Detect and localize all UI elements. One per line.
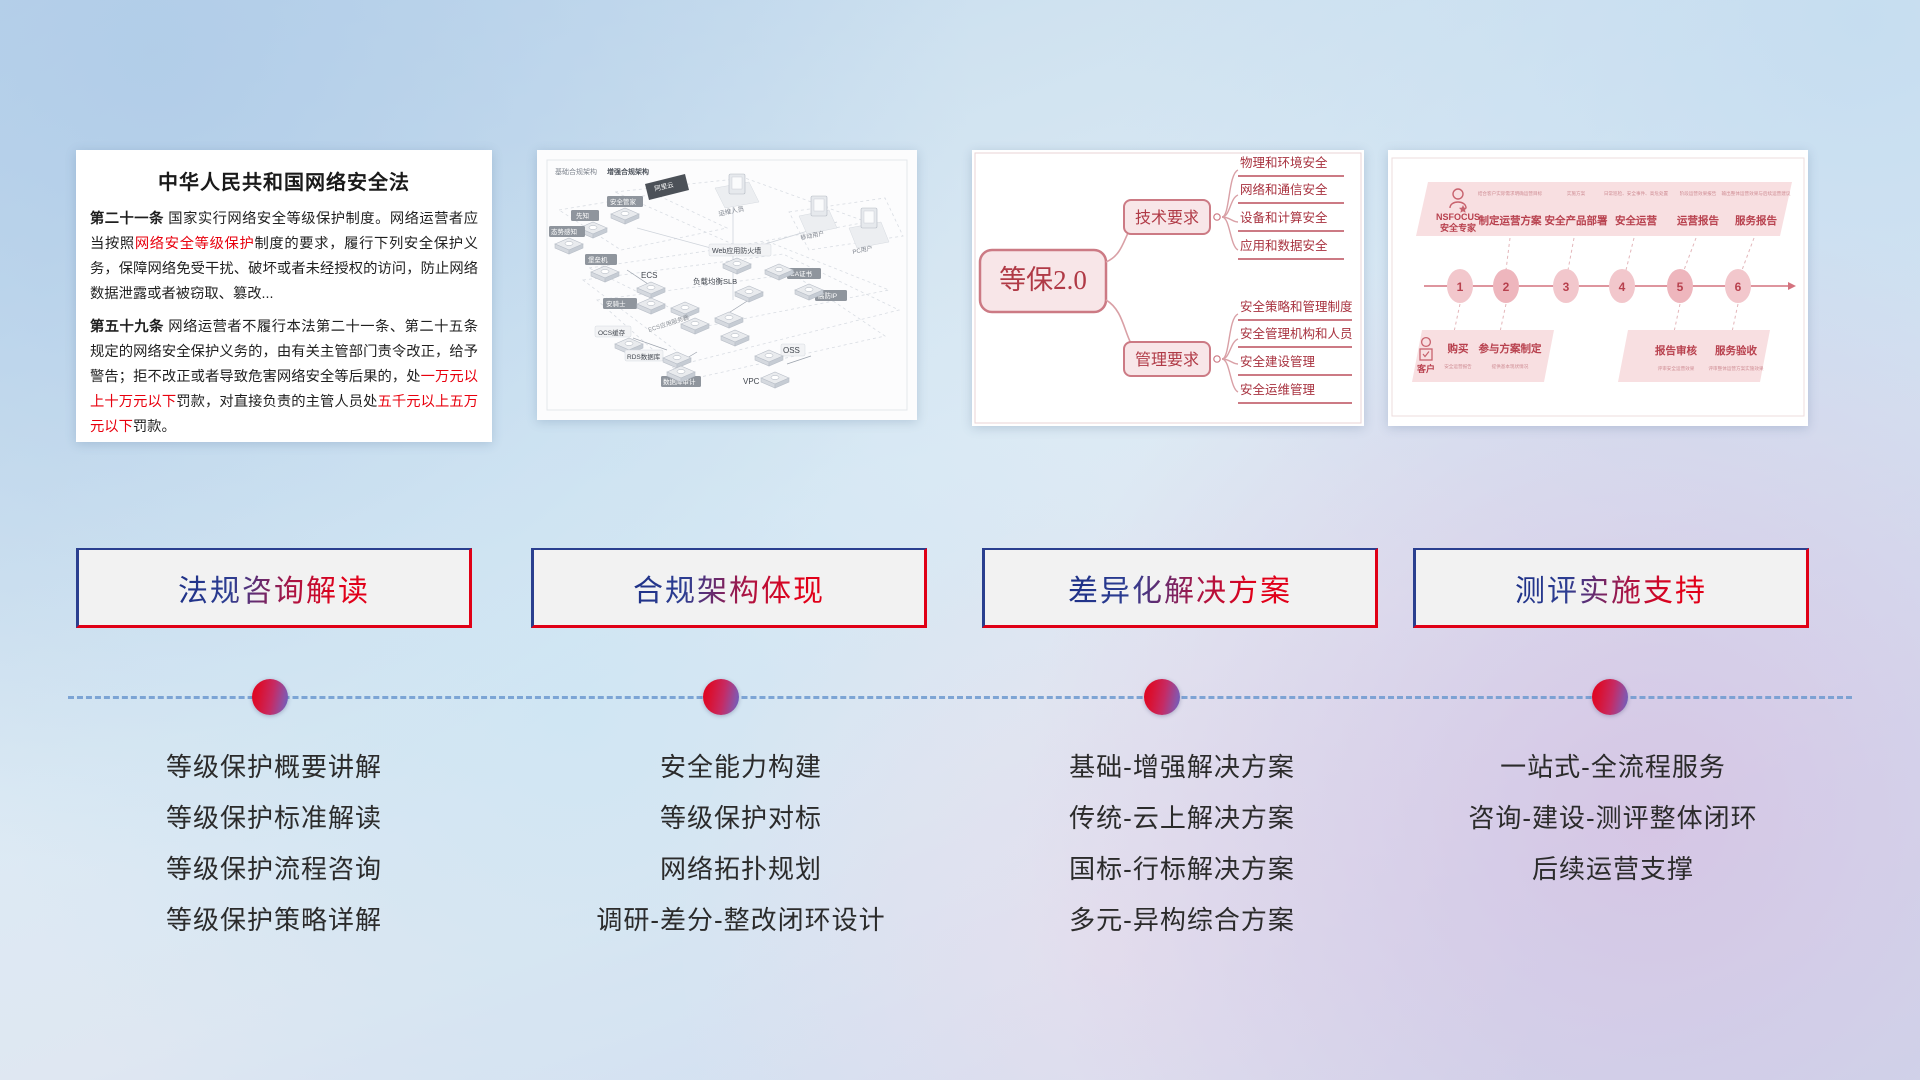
svg-text:3: 3 [1563,280,1570,294]
svg-text:安全建设管理: 安全建设管理 [1240,354,1316,369]
nsfocus-step-1: 1 [1447,269,1473,303]
card-nsfocus-timeline: NSFOCUS 安全专家 结合客户实际需求明确运营目标 制定运营方案 实施方案 … [1388,150,1808,426]
svg-text:评审安全运营效果: 评审安全运营效果 [1658,365,1695,372]
list-item: 网络拓扑规划 [531,844,951,895]
timeline-dot-2 [703,679,739,715]
svg-text:安全运维管理: 安全运维管理 [1240,382,1316,397]
svg-text:ECS: ECS [641,271,657,280]
list-item: 后续运营支撑 [1393,844,1833,895]
svg-text:制定运营方案: 制定运营方案 [1479,214,1542,227]
list-item: 等级保护标准解读 [76,793,472,844]
article-21-highlight: 网络安全等级保护 [135,236,255,252]
mindmap-branch-management: 管理要求 [1124,342,1220,376]
mindmap-root: 等保2.0 [980,250,1106,312]
nsfocus-brand: NSFOCUS [1436,212,1480,222]
section-list-1: 等级保护概要讲解 等级保护标准解读 等级保护流程咨询 等级保护策略详解 [76,742,472,946]
svg-text:提供基本现状情况: 提供基本现状情况 [1492,363,1529,370]
nsfocus-step-3: 3 [1553,269,1579,303]
section-list-4: 一站式-全流程服务 咨询-建设-测评整体闭环 后续运营支撑 [1393,742,1833,895]
nsfocus-step-6: 6 [1725,269,1751,303]
mindmap-branch-technical-label: 技术要求 [1135,209,1199,227]
svg-text:网络和通信安全: 网络和通信安全 [1240,182,1328,197]
list-item: 调研-差分-整改闭环设计 [531,895,951,946]
timeline-dot-1 [252,679,288,715]
list-item: 等级保护流程咨询 [76,844,472,895]
section-list-3: 基础-增强解决方案 传统-云上解决方案 国标-行标解决方案 多元-异构综合方案 [972,742,1392,946]
svg-text:负载均衡SLB: 负载均衡SLB [693,276,737,286]
nsfocus-step-4: 4 [1609,269,1635,303]
list-item: 传统-云上解决方案 [972,793,1392,844]
svg-text:安全策略和管理制度: 安全策略和管理制度 [1240,299,1353,314]
svg-text:报告审核: 报告审核 [1655,344,1697,357]
svg-text:物理和环境安全: 物理和环境安全 [1240,155,1328,170]
list-item: 等级保护对标 [531,793,951,844]
section-title-box-2[interactable]: 合规架构体现 [531,548,927,628]
architecture-diagram: 基础合规架构 增强合规架构 [537,150,917,420]
mindmap-root-label: 等保2.0 [999,265,1087,295]
list-item: 咨询-建设-测评整体闭环 [1393,793,1833,844]
mindmap-branch-management-label: 管理要求 [1135,351,1199,369]
svg-text:阶段运营效果报告: 阶段运营效果报告 [1680,190,1717,197]
svg-text:评审整体运营方案实施效果: 评审整体运营方案实施效果 [1708,365,1764,372]
svg-text:输出整体运营效果与后续运营建议: 输出整体运营效果与后续运营建议 [1722,190,1791,197]
section-title-box-4[interactable]: 测评实施支持 [1413,548,1809,628]
law-body: 中华人民共和国网络安全法 第二十一条 国家实行网络安全等级保护制度。网络运营者应… [76,150,492,442]
list-item: 国标-行标解决方案 [972,844,1392,895]
article-59-text-c: 罚款。 [133,419,176,435]
card-dengbao-mindmap: 等保2.0 技术要求 物理和环 [972,150,1364,426]
svg-text:堡垒机: 堡垒机 [588,255,608,264]
svg-text:OCS缓存: OCS缓存 [598,328,626,337]
nsfocus-step-5: 5 [1667,269,1693,303]
svg-text:购买: 购买 [1448,342,1470,355]
nsfocus-diagram: NSFOCUS 安全专家 结合客户实际需求明确运营目标 制定运营方案 实施方案 … [1388,150,1808,426]
arch-tab-enhanced: 增强合规架构 [607,167,649,176]
list-item: 安全能力构建 [531,742,951,793]
svg-text:运营报告: 运营报告 [1677,214,1719,227]
timeline-dashed-line [68,696,1852,699]
section-title-3: 差异化解决方案 [1068,566,1292,610]
card-row: 中华人民共和国网络安全法 第二十一条 国家实行网络安全等级保护制度。网络运营者应… [0,150,1920,450]
svg-text:1: 1 [1457,280,1464,294]
svg-text:安全运营报告: 安全运营报告 [1444,363,1472,370]
svg-text:应用和数据安全: 应用和数据安全 [1240,238,1328,253]
svg-text:安全管理机构和人员: 安全管理机构和人员 [1240,326,1353,341]
svg-text:服务验收: 服务验收 [1715,344,1757,357]
list-item: 多元-异构综合方案 [972,895,1392,946]
article-59-text-b: 罚款，对直接负责的主管人员处 [176,394,377,410]
svg-text:实施方案: 实施方案 [1567,190,1586,197]
mindmap-diagram: 等保2.0 技术要求 物理和环 [972,150,1364,426]
list-item: 等级保护策略详解 [76,895,472,946]
timeline-dot-3 [1144,679,1180,715]
timeline-dot-4 [1592,679,1628,715]
svg-text:日常巡检、安全事件、高危处置: 日常巡检、安全事件、高危处置 [1604,190,1669,197]
svg-text:VPC: VPC [743,377,760,386]
svg-text:设备和计算安全: 设备和计算安全 [1240,210,1328,225]
svg-text:CA证书: CA证书 [790,269,813,278]
list-item: 等级保护概要讲解 [76,742,472,793]
list-item: 基础-增强解决方案 [972,742,1392,793]
nsfocus-step-2: 2 [1493,269,1519,303]
svg-text:服务报告: 服务报告 [1735,214,1777,227]
svg-text:OSS: OSS [783,346,800,355]
svg-text:6: 6 [1735,280,1742,294]
nsfocus-expert-role: 安全专家 [1440,222,1477,233]
article-59-label: 第五十九条 [90,319,164,335]
section-list-2: 安全能力构建 等级保护对标 网络拓扑规划 调研-差分-整改闭环设计 [531,742,951,946]
law-article-21: 第二十一条 国家实行网络安全等级保护制度。网络运营者应当按照网络安全等级保护制度… [90,207,478,307]
law-article-59: 第五十九条 网络运营者不履行本法第二十一条、第二十五条规定的网络安全保护义务的，… [90,315,478,440]
svg-text:安全产品部署: 安全产品部署 [1545,214,1608,227]
svg-text:安全管家: 安全管家 [610,197,637,206]
svg-text:安骑士: 安骑士 [606,299,626,308]
svg-text:先知: 先知 [576,211,589,220]
svg-text:安全运营: 安全运营 [1615,214,1657,227]
svg-text:参与方案制定: 参与方案制定 [1479,342,1542,355]
svg-text:结合客户实际需求明确运营目标: 结合客户实际需求明确运营目标 [1478,190,1543,197]
nsfocus-customer-label: 客户 [1416,363,1435,374]
arch-tab-basic: 基础合规架构 [555,167,597,176]
article-21-label: 第二十一条 [90,211,164,227]
svg-text:2: 2 [1503,280,1510,294]
svg-text:5: 5 [1677,280,1684,294]
svg-text:4: 4 [1619,280,1626,294]
section-title-1: 法规咨询解读 [178,566,370,610]
mindmap-branch-technical: 技术要求 [1124,200,1220,234]
section-title-2: 合规架构体现 [633,566,825,610]
section-title-4: 测评实施支持 [1515,566,1707,610]
section-title-box-1[interactable]: 法规咨询解读 [76,548,472,628]
card-cybersecurity-law: 中华人民共和国网络安全法 第二十一条 国家实行网络安全等级保护制度。网络运营者应… [76,150,492,442]
section-title-box-3[interactable]: 差异化解决方案 [982,548,1378,628]
law-title: 中华人民共和国网络安全法 [90,166,478,195]
svg-text:Web应用防火墙: Web应用防火墙 [712,246,761,255]
slide-root: 中华人民共和国网络安全法 第二十一条 国家实行网络安全等级保护制度。网络运营者应… [0,0,1920,1080]
svg-text:态势感知: 态势感知 [551,227,577,236]
card-cloud-architecture: 基础合规架构 增强合规架构 [537,150,917,420]
list-item: 一站式-全流程服务 [1393,742,1833,793]
svg-text:RDS数据库: RDS数据库 [627,352,661,361]
